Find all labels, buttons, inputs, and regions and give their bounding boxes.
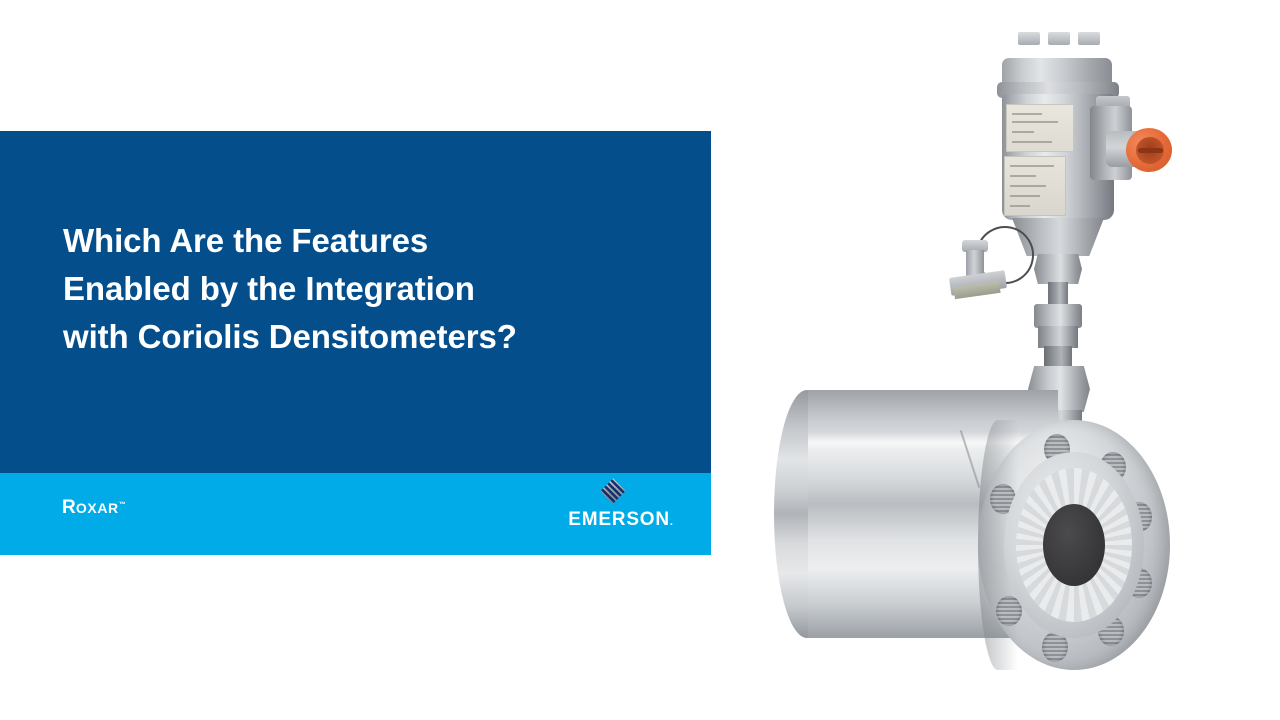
roxar-logo-first-letter: R (62, 497, 76, 518)
slide: Which Are the Features Enabled by the In… (0, 0, 1280, 720)
neck-stem-lower (1044, 346, 1072, 368)
flange-bore (1043, 504, 1105, 586)
emerson-wordmark-text: EMERSON (568, 509, 670, 530)
product-image (790, 28, 1230, 688)
plug-slot (1138, 148, 1163, 153)
nameplate-lower (1004, 156, 1066, 216)
emerson-logo: EMERSON. (556, 478, 686, 540)
roxar-trademark-icon: ™ (119, 502, 126, 509)
neck-collar (1038, 326, 1078, 348)
emerson-wordmark: EMERSON. (556, 510, 686, 529)
emerson-diamond-icon (600, 478, 626, 504)
page-title: Which Are the Features Enabled by the In… (63, 217, 663, 361)
transmitter-cap-rib (1018, 32, 1040, 45)
neck-hex-nut-upper (1034, 254, 1082, 284)
content-panel: Which Are the Features Enabled by the In… (0, 131, 711, 555)
panel-footer: ROXAR™ (0, 473, 711, 555)
panel-body: Which Are the Features Enabled by the In… (0, 131, 711, 473)
emerson-trademark-icon: . (670, 516, 674, 528)
transmitter-cap-rib (1078, 32, 1100, 45)
neck-union-nut (1034, 304, 1082, 328)
transmitter-cap-rib (1048, 32, 1070, 45)
nameplate-upper (1006, 104, 1074, 152)
roxar-logo-rest: OXAR (76, 500, 119, 516)
roxar-logo: ROXAR™ (62, 498, 126, 517)
